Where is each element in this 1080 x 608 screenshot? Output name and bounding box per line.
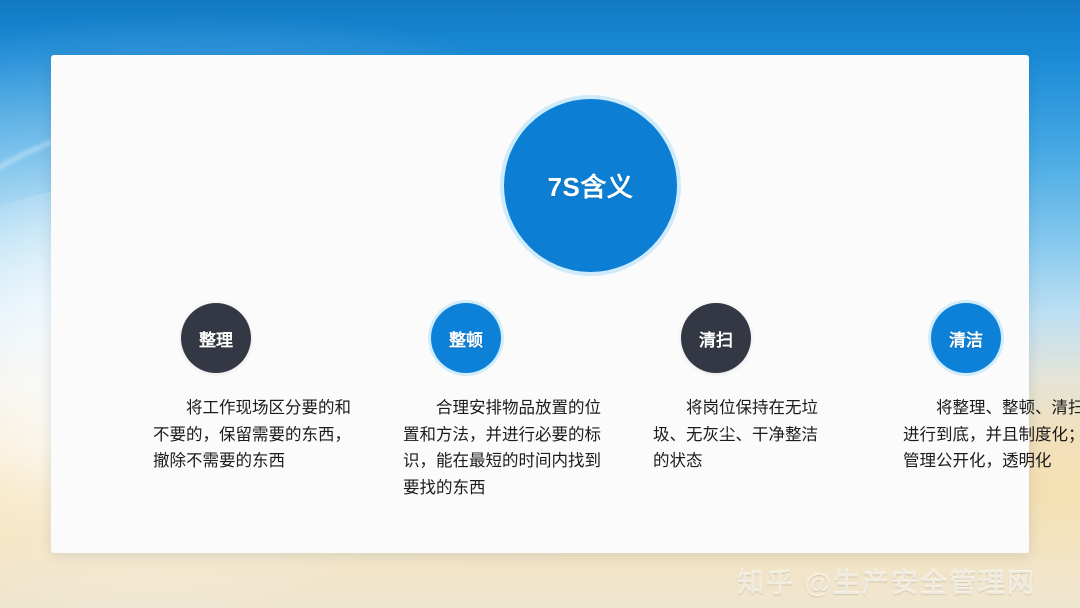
node-zhengdun: 整顿 合理安排物品放置的位置和方法，并进行必要的标识，能在最短的时间内找到要找的… xyxy=(380,303,624,502)
node-description-qingsao: 将岗位保持在无垃圾、无灰尘、干净整洁的状态 xyxy=(653,395,833,475)
node-circle-zhengdun: 整顿 xyxy=(431,303,501,373)
watermark: 知乎 @生产安全管理网 xyxy=(737,561,1036,600)
node-label-qingsao: 清扫 xyxy=(699,326,733,351)
hub-label: 7S含义 xyxy=(548,167,634,204)
node-qingsao: 清扫 将岗位保持在无垃圾、无灰尘、干净整洁的状态 xyxy=(630,303,874,475)
node-description-zhengli: 将工作现场区分要的和不要的，保留需要的东西，撤除不需要的东西 xyxy=(153,395,357,475)
node-label-qingjie: 清洁 xyxy=(949,326,983,351)
node-qingjie: 清洁 将整理、整顿、清扫进行到底，并且制度化；管理公开化，透明化 xyxy=(880,303,1080,475)
node-label-zhengdun: 整顿 xyxy=(449,326,483,351)
node-label-zhengli: 整理 xyxy=(199,326,233,351)
node-circle-qingsao: 清扫 xyxy=(681,303,751,373)
content-card: 7S含义 整理 将工作现场区分要的和不要的，保留需要的东西，撤除不需要的东西 整… xyxy=(51,55,1029,553)
node-description-qingjie: 将整理、整顿、清扫进行到底，并且制度化；管理公开化，透明化 xyxy=(903,395,1080,475)
node-circle-qingjie: 清洁 xyxy=(931,303,1001,373)
node-description-zhengdun: 合理安排物品放置的位置和方法，并进行必要的标识，能在最短的时间内找到要找的东西 xyxy=(403,395,613,502)
hub-circle-7s: 7S含义 xyxy=(504,99,677,272)
node-zhengli: 整理 将工作现场区分要的和不要的，保留需要的东西，撤除不需要的东西 xyxy=(130,303,374,475)
node-circle-zhengli: 整理 xyxy=(181,303,251,373)
slide-canvas: 7S含义 整理 将工作现场区分要的和不要的，保留需要的东西，撤除不需要的东西 整… xyxy=(0,0,1080,608)
node-row: 整理 将工作现场区分要的和不要的，保留需要的东西，撤除不需要的东西 整顿 合理安… xyxy=(51,303,1029,553)
